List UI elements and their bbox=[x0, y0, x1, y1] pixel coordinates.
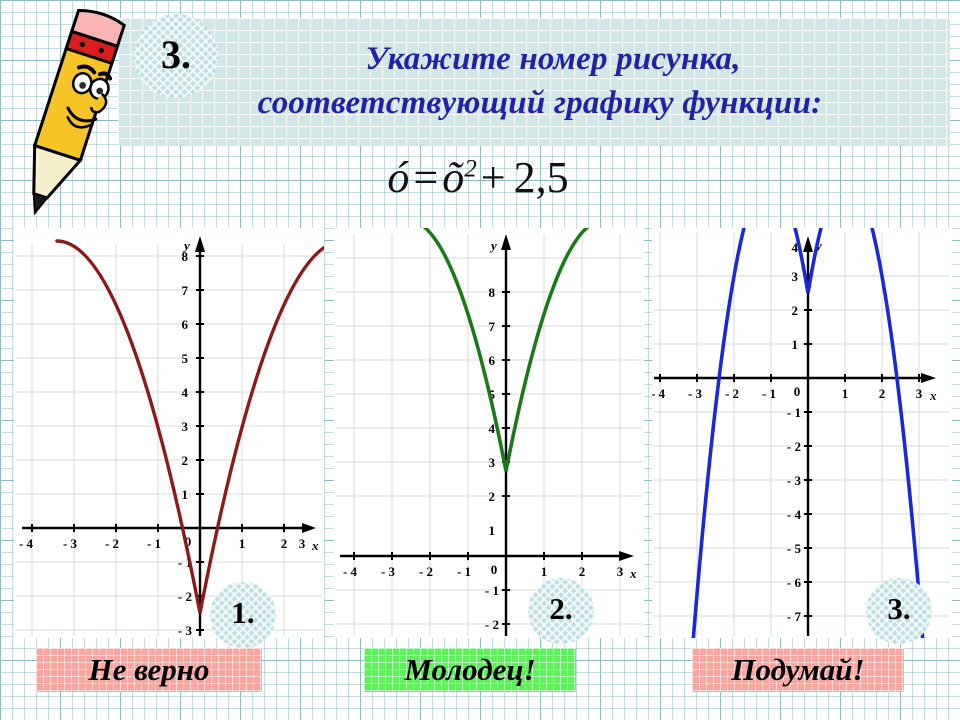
pencil-mascot-icon bbox=[2, 4, 132, 224]
y-tick-label: 2 bbox=[792, 303, 799, 318]
option-badge-2[interactable]: 2. bbox=[528, 578, 594, 644]
x-tick-label: 1 bbox=[239, 536, 246, 551]
feedback-label-2: Молодец! bbox=[404, 652, 535, 688]
feedback-label-1: Не верно bbox=[88, 652, 209, 688]
y-tick-label: 3 bbox=[792, 269, 799, 284]
y-tick-label: - 2 bbox=[178, 589, 192, 604]
formula-equals: = bbox=[409, 153, 442, 202]
title-line-1: Укажите номер рисунка, bbox=[365, 38, 740, 82]
y-tick-label: 5 bbox=[182, 351, 189, 366]
x-tick-label: - 1 bbox=[147, 536, 161, 551]
feedback-banner-3: Подумай! bbox=[692, 648, 904, 692]
x-axis-label: x bbox=[929, 388, 937, 403]
x-tick-label: - 2 bbox=[105, 536, 119, 551]
feedback-banner-1: Не верно bbox=[36, 648, 262, 692]
y-tick-label: - 6 bbox=[787, 575, 802, 590]
x-tick-label: 3 bbox=[916, 386, 923, 401]
x-tick-label: - 1 bbox=[457, 564, 471, 579]
y-tick-label: - 7 bbox=[787, 609, 802, 624]
x-tick-label: 1 bbox=[842, 386, 849, 401]
y-tick-label: 2 bbox=[489, 489, 496, 504]
formula-variable: õ bbox=[442, 153, 464, 202]
page-title: Укажите номер рисунка, соответствующий г… bbox=[130, 22, 950, 142]
y-axis-label: y bbox=[182, 238, 190, 253]
option-badge-1[interactable]: 1. bbox=[210, 582, 276, 648]
y-tick-label: 6 bbox=[489, 353, 496, 368]
y-tick-label: - 2 bbox=[485, 617, 499, 632]
y-tick-label: - 1 bbox=[485, 583, 499, 598]
x-tick-label: 3 bbox=[299, 536, 306, 551]
x-tick-label: - 1 bbox=[762, 386, 776, 401]
graph-panel-2: - 4 - 3 - 2 - 1 0 1 2 3 8 7 6 5 4 3 2 1 … bbox=[334, 228, 644, 638]
y-tick-label: 7 bbox=[489, 319, 496, 334]
y-tick-label: 1 bbox=[182, 487, 189, 502]
x-axis-label: x bbox=[311, 538, 319, 553]
x-tick-label: 0 bbox=[794, 384, 801, 399]
y-tick-label: 8 bbox=[489, 285, 496, 300]
option-badge-3[interactable]: 3. bbox=[866, 578, 932, 644]
x-tick-label: - 2 bbox=[419, 564, 433, 579]
feedback-label-3: Подумай! bbox=[731, 652, 864, 688]
formula-plus: + bbox=[477, 153, 510, 202]
x-tick-label: - 2 bbox=[725, 386, 739, 401]
option-badge-3-label: 3. bbox=[887, 591, 910, 627]
y-tick-label: - 2 bbox=[787, 439, 801, 454]
x-tick-label: - 3 bbox=[688, 386, 703, 401]
y-tick-label: 1 bbox=[792, 337, 799, 352]
x-tick-label: 3 bbox=[617, 564, 624, 579]
feedback-banner-2: Молодец! bbox=[364, 648, 576, 692]
formula-lhs: ó bbox=[387, 153, 409, 202]
x-tick-label: 2 bbox=[281, 536, 288, 551]
y-tick-label: - 5 bbox=[787, 541, 802, 556]
x-tick-label: - 4 bbox=[19, 536, 34, 551]
y-tick-label: 3 bbox=[489, 455, 496, 470]
graph-panel-1: - 4 - 3 - 2 - 1 0 1 2 3 8 7 6 5 4 3 2 1 … bbox=[14, 228, 324, 638]
y-tick-label: - 3 bbox=[787, 473, 802, 488]
formula-constant: 2,5 bbox=[510, 153, 573, 202]
option-badge-2-label: 2. bbox=[549, 591, 572, 627]
y-tick-label: 1 bbox=[489, 523, 496, 538]
y-tick-label: 2 bbox=[182, 453, 189, 468]
y-tick-label: - 3 bbox=[178, 623, 193, 638]
x-tick-label: 0 bbox=[491, 562, 498, 577]
x-tick-label: 2 bbox=[879, 386, 886, 401]
function-formula: ó=õ2+2,5 bbox=[0, 152, 960, 214]
option-badge-1-label: 1. bbox=[231, 595, 254, 631]
x-tick-label: 2 bbox=[579, 564, 586, 579]
graph-panel-3: - 4 - 3 - 2 - 1 0 1 2 3 4 3 2 1 - 1 - 2 … bbox=[652, 228, 952, 638]
y-tick-label: 4 bbox=[182, 385, 189, 400]
y-tick-label: 3 bbox=[182, 419, 189, 434]
x-tick-label: - 3 bbox=[381, 564, 396, 579]
y-tick-label: - 4 bbox=[787, 507, 802, 522]
x-tick-label: - 4 bbox=[652, 386, 666, 401]
y-tick-label: - 1 bbox=[787, 405, 801, 420]
y-axis-label: y bbox=[489, 238, 497, 253]
x-tick-label: - 3 bbox=[63, 536, 78, 551]
title-line-2: соответствующий графику функции: bbox=[258, 82, 823, 126]
x-tick-label: - 4 bbox=[343, 564, 358, 579]
y-tick-label: 7 bbox=[182, 283, 189, 298]
x-axis-label: x bbox=[629, 566, 637, 581]
y-tick-label: 6 bbox=[182, 317, 189, 332]
x-tick-label: 1 bbox=[541, 564, 548, 579]
formula-exponent: 2 bbox=[464, 155, 477, 182]
